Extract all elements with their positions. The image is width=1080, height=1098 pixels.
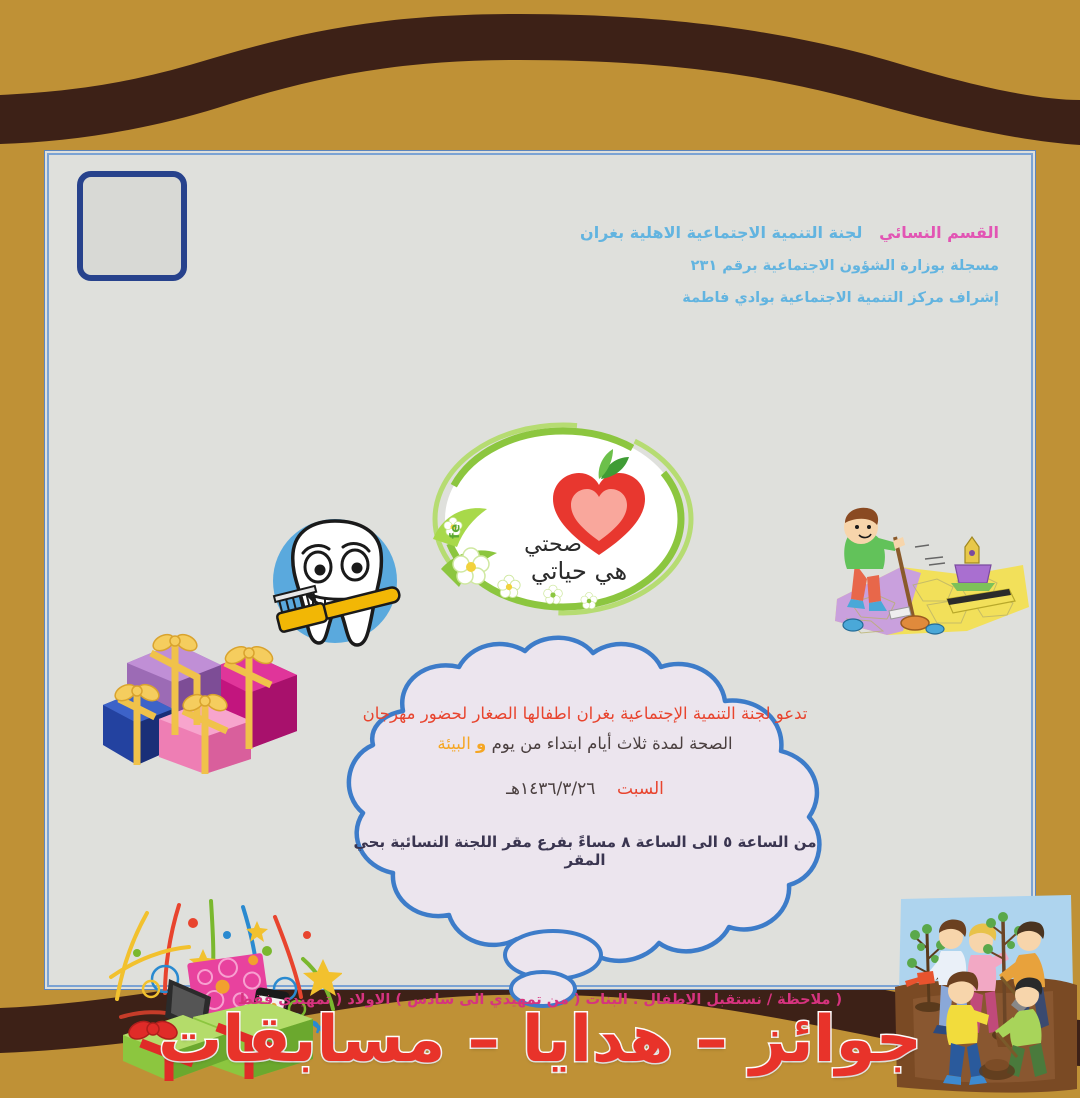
bottom-note-text: ( ملاحظة / نستقبل الاطفال . البنات ( من … bbox=[0, 992, 1080, 1008]
header-main-label: لجنة التنمية الاجتماعية الاهلية بغران bbox=[580, 223, 862, 242]
cloud-date-day: السبت bbox=[617, 779, 664, 799]
cloud-body-line-2: الصحة لمدة ثلاث أيام ابتداء من يوم و الب… bbox=[335, 729, 835, 759]
cloud-text-block: تدعو لجنة التنمية الإجتماعية بغران اطفال… bbox=[335, 699, 835, 869]
cloud-date-value: ١٤٣٦/٣/٢٦هـ bbox=[506, 779, 595, 799]
poster-canvas: القسم النسائي لجنة التنمية الاجتماعية ال… bbox=[0, 0, 1080, 1080]
organization-logo bbox=[77, 171, 187, 281]
poster-inner-panel: القسم النسائي لجنة التنمية الاجتماعية ال… bbox=[44, 150, 1036, 990]
organization-header: القسم النسائي لجنة التنمية الاجتماعية ال… bbox=[439, 223, 999, 322]
header-line-3: إشراف مركز التنمية الاجتماعية بوادي فاطم… bbox=[439, 290, 999, 306]
boy-cleaning-floor-illustration bbox=[817, 503, 1043, 643]
header-accent-label: القسم النسائي bbox=[879, 223, 999, 242]
cloud-body-line-1: تدعو لجنة التنمية الإجتماعية بغران اطفال… bbox=[335, 699, 835, 729]
cloud-time-line: من الساعة ٥ الى الساعة ٨ مساءً بفرع مقر … bbox=[335, 833, 835, 869]
cloud-body-word-and: و bbox=[476, 734, 486, 753]
gift-boxes-illustration bbox=[97, 619, 302, 774]
my-health-is-my-life-logo: My Health is My Life صحتي هي حياتي bbox=[413, 419, 703, 619]
cloud-body-word-environment: البيئة bbox=[437, 734, 470, 753]
header-line-1: القسم النسائي لجنة التنمية الاجتماعية ال… bbox=[439, 223, 999, 242]
health-logo-arabic-2: هي حياتي bbox=[531, 557, 627, 585]
cloud-date-line: السبت ١٤٣٦/٣/٢٦هـ bbox=[335, 779, 835, 799]
header-line-2: مسجلة بوزارة الشؤون الاجتماعية برقم ٢٣١ bbox=[439, 258, 999, 274]
cloud-body-line-2-rest: الصحة لمدة ثلاث أيام ابتداء من يوم bbox=[492, 734, 733, 753]
page-title: جوائز – هدايا – مسابقات bbox=[45, 1003, 1035, 1077]
health-logo-arabic-1: صحتي bbox=[524, 532, 582, 557]
